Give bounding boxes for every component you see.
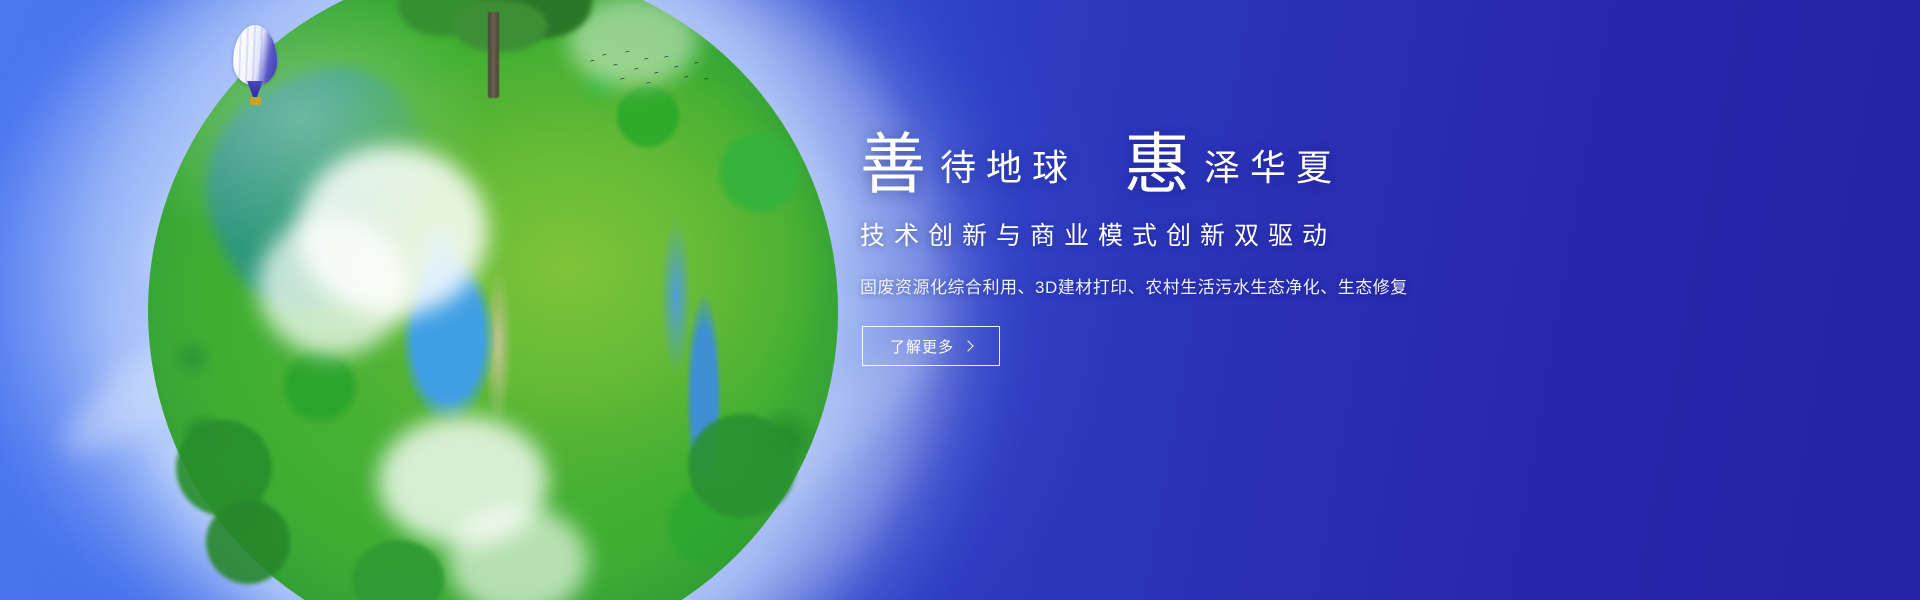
page-title: 善 待地球 惠 泽华夏: [860, 128, 1560, 194]
learn-more-label: 了解更多: [890, 336, 954, 357]
tree-icon: [688, 414, 796, 518]
birds-flock-icon: [586, 48, 716, 92]
headline-part2-large: 惠: [1124, 132, 1192, 198]
tree-icon: [392, 0, 602, 116]
headline-part1-small: 待地球: [928, 151, 1078, 194]
headline-part2-small: 泽华夏: [1192, 151, 1342, 194]
hot-air-balloon-icon: [233, 25, 277, 113]
chevron-right-icon: [962, 340, 973, 351]
hero-banner: 善 待地球 惠 泽华夏 技术创新与商业模式创新双驱动 固废资源化综合利用、3D建…: [0, 0, 1920, 600]
hero-subtitle: 技术创新与商业模式创新双驱动: [860, 216, 1560, 252]
hero-description: 固废资源化综合利用、3D建材打印、农村生活污水生态净化、生态修复: [860, 273, 1560, 298]
hero-copy: 善 待地球 惠 泽华夏 技术创新与商业模式创新双驱动 固废资源化综合利用、3D建…: [860, 128, 1560, 366]
tree-icon: [206, 500, 290, 584]
learn-more-button[interactable]: 了解更多: [862, 326, 1000, 366]
headline-part1-large: 善: [860, 132, 928, 198]
